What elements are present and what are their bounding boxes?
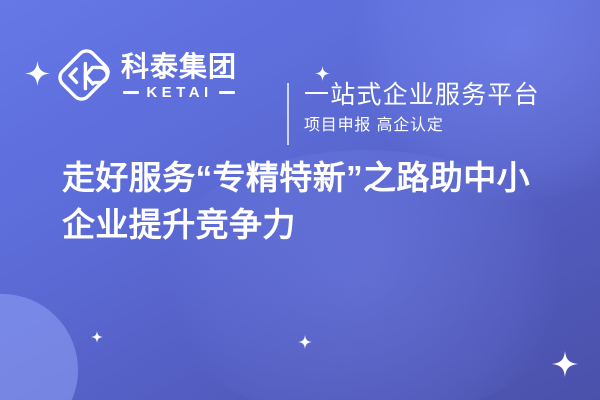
banner-headline: 走好服务“专精特新”之路助中小企业提升竞争力	[62, 155, 562, 249]
ketai-diamond-logo-icon	[58, 49, 112, 103]
promo-banner: 科泰集团 KETAI 一站式企业服务平台 项目申报 高企认定 走好服务“专精特新…	[0, 0, 600, 400]
brand-rule-right	[219, 91, 235, 94]
brand-rule-left	[123, 91, 139, 94]
tagline-primary: 一站式企业服务平台	[304, 80, 540, 111]
brand-lockup: 科泰集团 KETAI	[58, 49, 237, 103]
brand-name-cn: 科泰集团	[121, 52, 237, 81]
tagline-secondary: 项目申报 高企认定	[304, 114, 540, 138]
sparkle-bottom-left-icon	[91, 331, 103, 343]
banner-header: 科泰集团 KETAI 一站式企业服务平台 项目申报 高企认定	[0, 38, 600, 114]
brand-text-block: 科泰集团 KETAI	[121, 52, 237, 99]
sparkle-bottom-center-icon	[298, 335, 312, 349]
brand-name-en-row: KETAI	[121, 85, 237, 100]
sparkle-bottom-right-icon	[552, 351, 578, 377]
tagline-block: 一站式企业服务平台 项目申报 高企认定	[304, 80, 540, 138]
header-divider	[287, 83, 289, 145]
brand-name-en: KETAI	[146, 85, 212, 100]
decorative-circle-left	[0, 294, 78, 400]
